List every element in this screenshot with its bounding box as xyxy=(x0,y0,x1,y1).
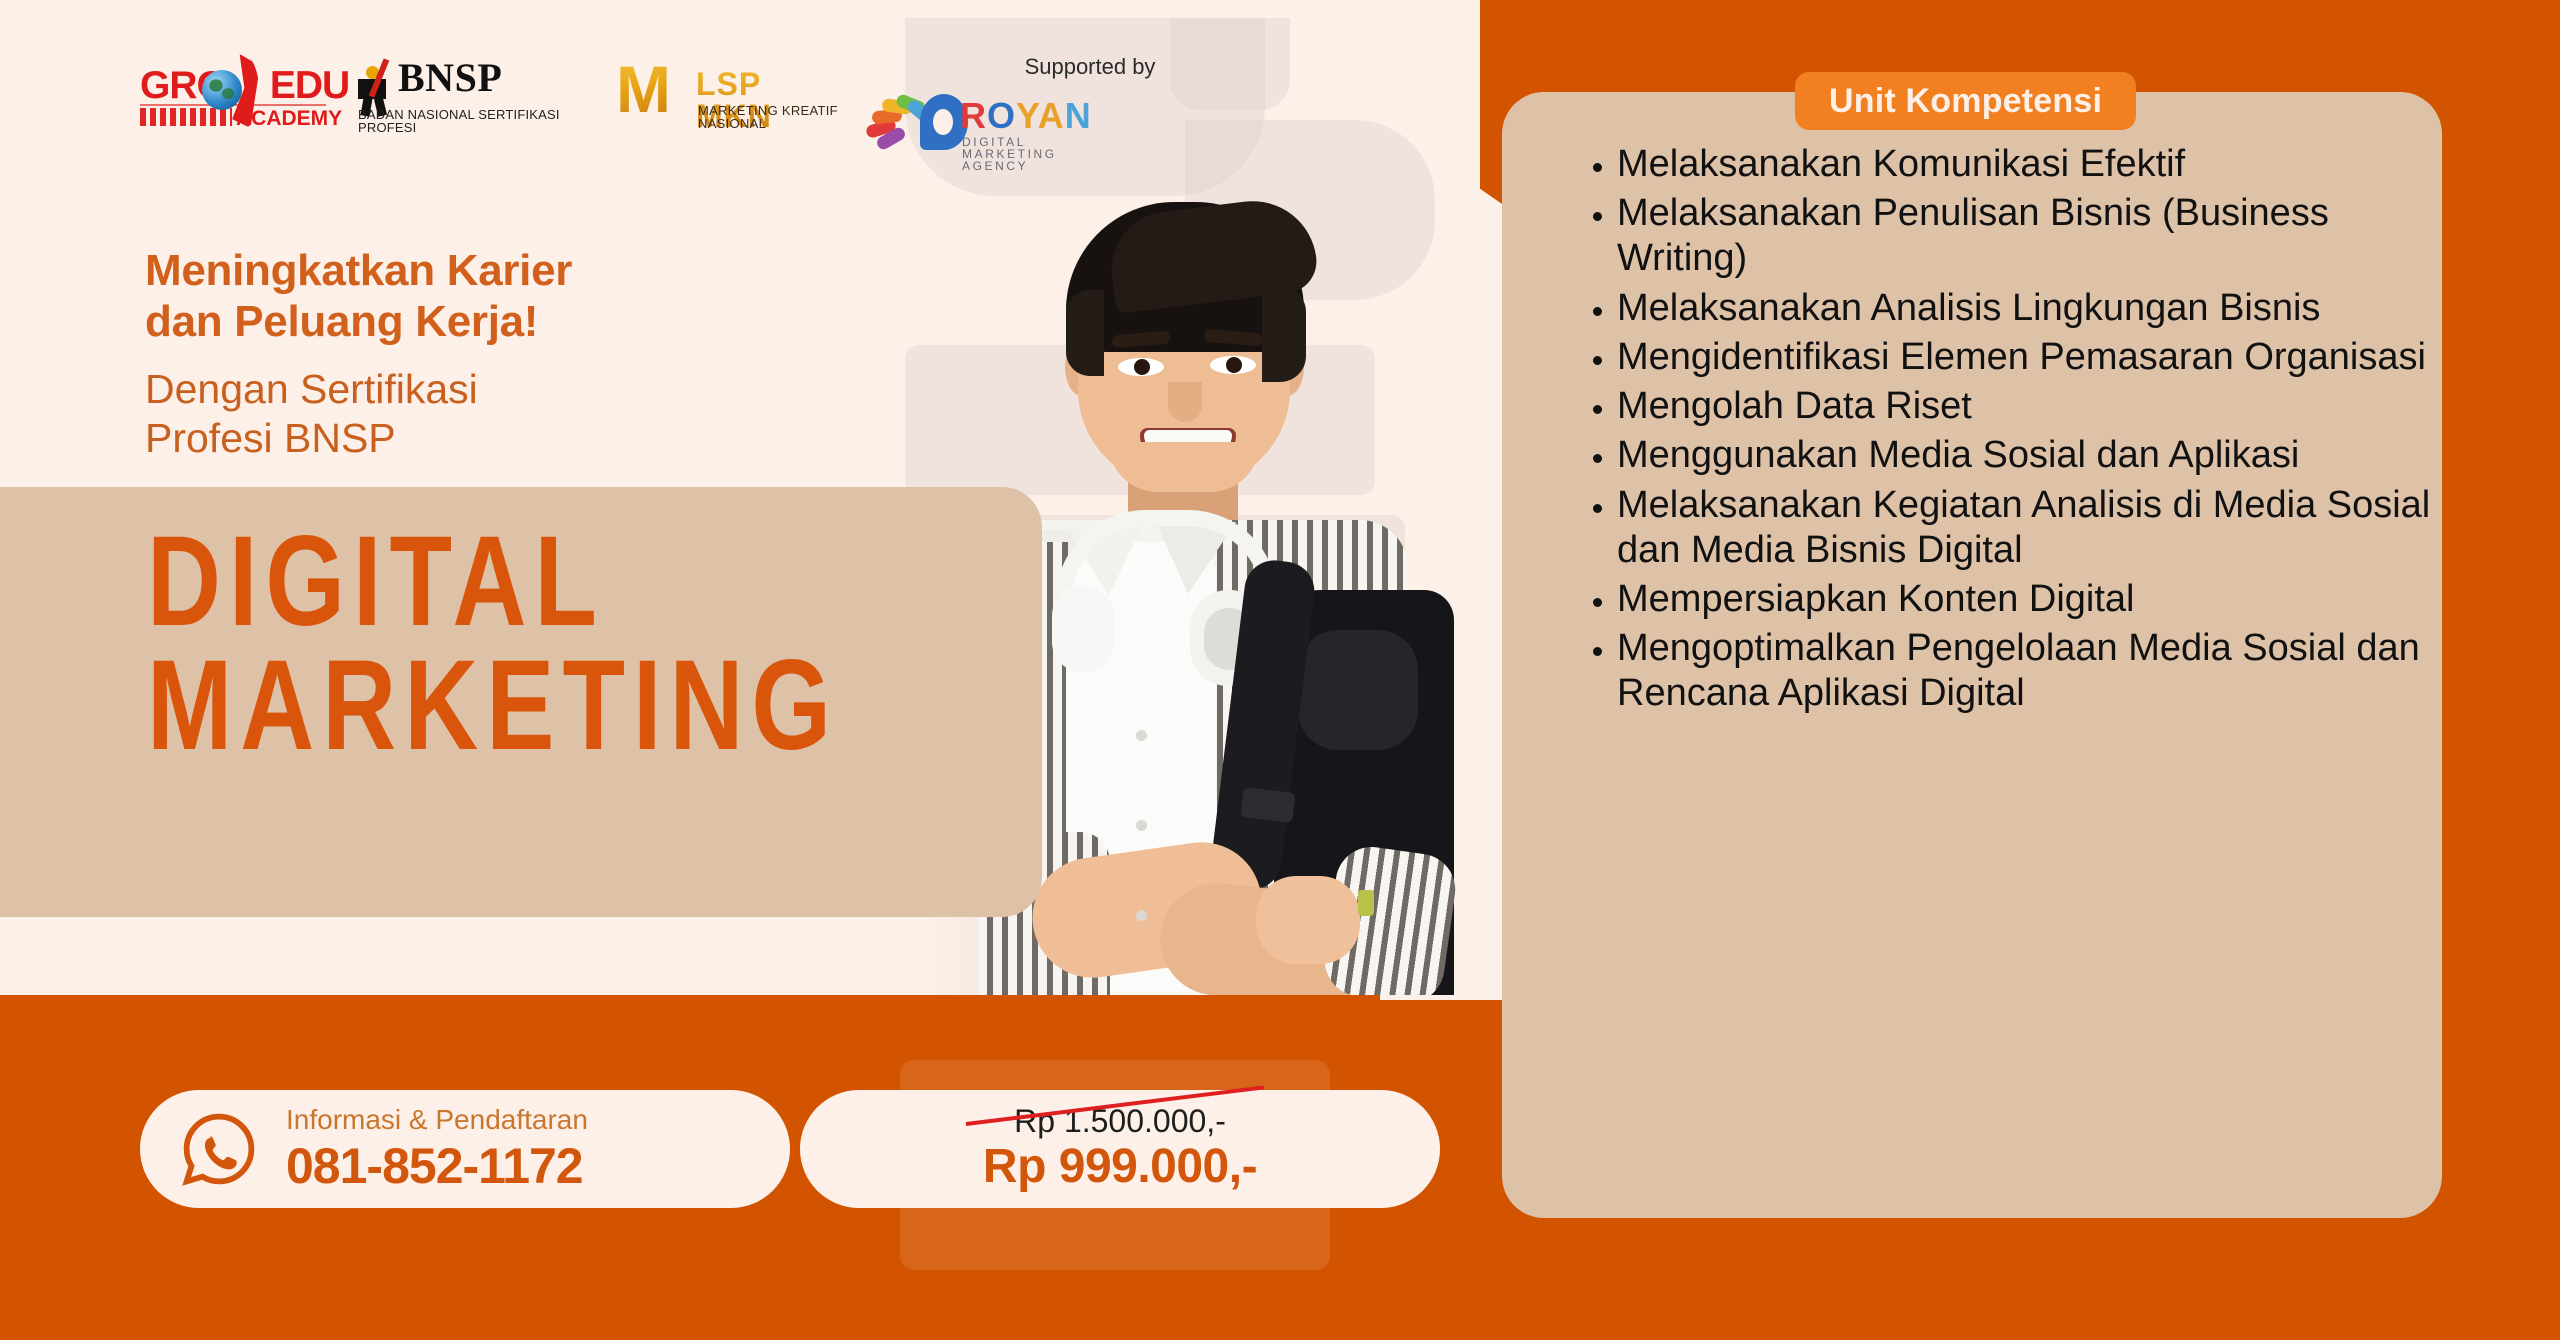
course-title-line-1: DIGITAL xyxy=(147,520,867,644)
pupil-left xyxy=(1134,359,1150,375)
headphone-cup-left xyxy=(1052,586,1114,672)
bnsp-wordmark: BNSP xyxy=(398,58,502,98)
lsp-mkn-logo: M LSP MKN MARKETING KREATIF NASIONAL xyxy=(616,52,846,134)
list-item: Melaksanakan Penulisan Bisnis (Business … xyxy=(1617,191,2447,281)
droyan-subtext: DIGITAL MARKETING AGENCY xyxy=(962,136,1116,172)
supported-by-block: Supported by xyxy=(960,56,1220,78)
droyan-letter: O xyxy=(987,95,1016,136)
shirt-button xyxy=(1136,820,1147,831)
supported-by-label: Supported by xyxy=(960,56,1220,78)
list-item: Melaksanakan Kegiatan Analisis di Media … xyxy=(1617,483,2447,573)
list-item: Melaksanakan Analisis Lingkungan Bisnis xyxy=(1617,286,2447,331)
groedu-text-2: EDU xyxy=(270,64,349,107)
list-item: Melaksanakan Komunikasi Efektif xyxy=(1617,142,2447,187)
poster-canvas: GROEDU ACADEMY BNSP BADAN NASIONAL SERTI… xyxy=(0,0,2560,1340)
logo-dot-bar xyxy=(140,108,232,126)
bnsp-logo: BNSP BADAN NASIONAL SERTIFIKASI PROFESI xyxy=(356,52,586,134)
hair-fade-right xyxy=(1262,286,1306,382)
old-price: Rp 1.500.000,- xyxy=(1014,1103,1226,1139)
headline-block: Meningkatkan Karier dan Peluang Kerja! D… xyxy=(145,245,785,463)
droyan-letter: R xyxy=(960,95,987,136)
bnsp-subtext: BADAN NASIONAL SERTIFIKASI PROFESI xyxy=(358,108,586,134)
backpack-buckle xyxy=(1240,787,1295,823)
mkn-subtext: MARKETING KREATIF NASIONAL xyxy=(698,104,846,130)
groedu-subtext: ACADEMY xyxy=(236,108,342,129)
shirt-button xyxy=(1136,730,1147,741)
headline-sub-1: Dengan Sertifikasi xyxy=(145,365,785,414)
backpack-sheen xyxy=(1298,630,1418,750)
globe-icon xyxy=(202,70,242,110)
old-price-wrap: Rp 1.500.000,- xyxy=(1014,1104,1226,1139)
partner-logos: GROEDU ACADEMY BNSP BADAN NASIONAL SERTI… xyxy=(140,52,846,134)
shirt-tag xyxy=(1358,890,1374,916)
list-item: Mengolah Data Riset xyxy=(1617,384,2447,429)
list-item: Mengidentifikasi Elemen Pemasaran Organi… xyxy=(1617,335,2447,380)
list-item: Mengoptimalkan Pengelolaan Media Sosial … xyxy=(1617,626,2447,716)
unit-kompetensi-list: Melaksanakan Komunikasi Efektif Melaksan… xyxy=(1575,142,2447,721)
nose xyxy=(1168,382,1202,422)
contact-label: Informasi & Pendaftaran xyxy=(286,1105,588,1136)
unit-kompetensi-badge-label: Unit Kompetensi xyxy=(1829,84,2102,118)
headline-sub-2: Profesi BNSP xyxy=(145,414,785,463)
pupil-right xyxy=(1226,357,1242,373)
contact-text: Informasi & Pendaftaran 081-852-1172 xyxy=(286,1105,588,1192)
droyan-logo: ROYAN DIGITAL MARKETING AGENCY xyxy=(866,92,1116,154)
new-price: Rp 999.000,- xyxy=(800,1141,1440,1194)
whatsapp-icon xyxy=(182,1112,256,1186)
headline-line-1: Meningkatkan Karier xyxy=(145,245,785,296)
course-title: DIGITAL MARKETING xyxy=(147,520,1047,768)
droyan-wordmark: ROYAN xyxy=(960,98,1092,134)
course-title-line-2: MARKETING xyxy=(147,644,867,768)
hand xyxy=(1256,876,1360,964)
shirt-button xyxy=(1136,910,1147,921)
contact-pill[interactable]: Informasi & Pendaftaran 081-852-1172 xyxy=(140,1090,790,1208)
droyan-letter: YA xyxy=(1016,95,1065,136)
price-pill[interactable]: Rp 1.500.000,- Rp 999.000,- xyxy=(800,1090,1440,1208)
groedu-academy-logo: GROEDU ACADEMY xyxy=(140,52,326,134)
contact-phone[interactable]: 081-852-1172 xyxy=(286,1140,588,1193)
mkn-m-mark: M xyxy=(616,56,671,122)
list-item: Mempersiapkan Konten Digital xyxy=(1617,577,2447,622)
list-item: Menggunakan Media Sosial dan Aplikasi xyxy=(1617,433,2447,478)
headline-line-2: dan Peluang Kerja! xyxy=(145,296,785,347)
droyan-letter: N xyxy=(1065,95,1092,136)
headline-secondary: Dengan Sertifikasi Profesi BNSP xyxy=(145,365,785,463)
headline-primary: Meningkatkan Karier dan Peluang Kerja! xyxy=(145,245,785,347)
unit-kompetensi-badge: Unit Kompetensi xyxy=(1795,72,2136,130)
hair-fade-left xyxy=(1066,290,1104,376)
